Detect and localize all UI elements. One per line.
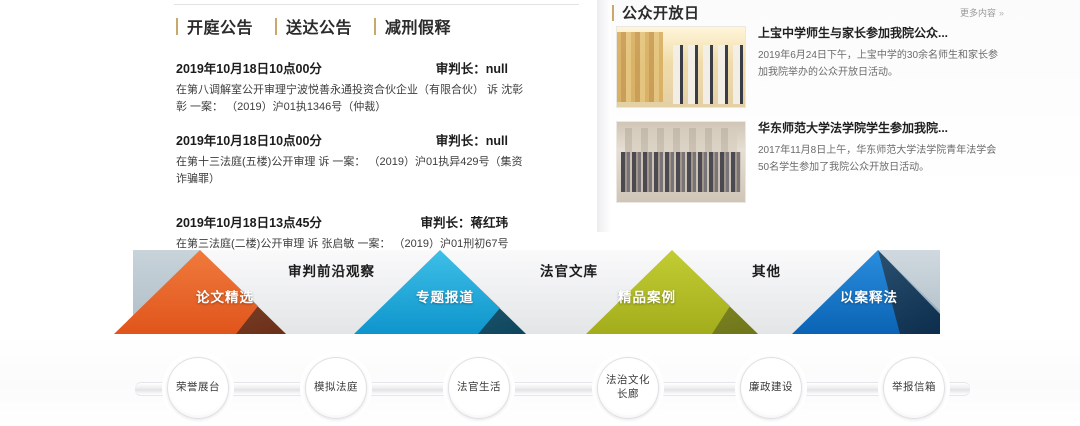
more-link[interactable]: 更多内容» — [960, 6, 1004, 19]
notice-body: 在第八调解室公开审理宁波悦善永通投资合伙企业（有限合伙） 诉 沈彰彰 一案： （… — [176, 82, 528, 116]
nav-node-label: 举报信箱 — [892, 381, 936, 395]
banner-item-yian-shifa[interactable]: 以案释法 — [840, 286, 898, 306]
news-title[interactable]: 上宝中学师生与家长参加我院公众... — [758, 26, 1002, 42]
notice-body: 在第十三法庭(五楼)公开审理 诉 一案： （2019）沪01执异429号（集资诈… — [176, 154, 528, 188]
nav-node-label: 法治文化 长廊 — [606, 374, 650, 401]
news-text: 华东师范大学法学院学生参加我院... 2017年11月8日上午，华东师范大学法学… — [758, 121, 1002, 203]
notice-judge: 审判长：蒋红玮 — [420, 212, 576, 231]
news-description: 2017年11月8日上午，华东师范大学法学院青年法学会50名学生参加了我院公众开… — [758, 142, 1002, 177]
chevron-right-icon: » — [999, 8, 1004, 18]
column-divider — [597, 0, 611, 232]
tab-accent-bar-icon — [374, 18, 376, 35]
banner-item-qita[interactable]: 其他 — [752, 260, 781, 280]
list-item[interactable]: 2019年10月18日10点00分 审判长：null 在第八调解室公开审理宁波悦… — [176, 58, 576, 116]
panel-header: 公众开放日 更多内容» — [612, 2, 1004, 23]
banner-item-lunwen-jingxuan[interactable]: 论文精选 — [196, 286, 254, 306]
notice-date: 2019年10月18日10点00分 — [176, 130, 322, 149]
panel-accent-bar-icon — [612, 5, 614, 21]
page-title: 公众开放日 — [622, 2, 700, 23]
nav-node-rongyu-zhantai[interactable]: 荣誉展台 — [167, 357, 229, 419]
nav-node-jubao-xinxiang[interactable]: 举报信箱 — [883, 357, 945, 419]
open-day-corridor-photo — [616, 26, 746, 108]
notice-date: 2019年10月18日13点45分 — [176, 212, 322, 231]
nav-node-fazhi-wenhua-changlang[interactable]: 法治文化 长廊 — [597, 357, 659, 419]
tab-songda-gonggao[interactable]: 送达公告 — [275, 14, 352, 38]
notice-judge: 审判长：null — [436, 58, 576, 77]
nav-node-label: 荣誉展台 — [176, 381, 220, 395]
top-content-area: 开庭公告 送达公告 减刑假释 2019年10月18日10点00分 审判长：nul… — [0, 0, 1080, 240]
nav-node-label: 法官生活 — [457, 381, 501, 395]
nav-node-label: 廉政建设 — [749, 381, 793, 395]
banner-item-jingpin-anli[interactable]: 精品案例 — [618, 286, 676, 306]
nav-node-lianzheng-jianshe[interactable]: 廉政建设 — [740, 357, 802, 419]
banner-item-zhuanti-baodao[interactable]: 专题报道 — [416, 286, 474, 306]
announcement-tabs: 开庭公告 送达公告 减刑假释 — [176, 14, 473, 38]
tab-jianxing-jiashi[interactable]: 减刑假释 — [374, 14, 451, 38]
notice-header: 2019年10月18日10点00分 审判长：null — [176, 58, 576, 77]
news-title[interactable]: 华东师范大学法学院学生参加我院... — [758, 121, 1002, 137]
tab-label: 开庭公告 — [187, 14, 253, 38]
list-item[interactable]: 华东师范大学法学院学生参加我院... 2017年11月8日上午，华东师范大学法学… — [616, 121, 1008, 203]
tab-accent-bar-icon — [275, 18, 277, 35]
left-panel-top-rule — [174, 4, 579, 5]
nav-node-faguan-shenghuo[interactable]: 法官生活 — [448, 357, 510, 419]
more-link-label: 更多内容 — [960, 8, 996, 18]
tab-kaiting-gonggao[interactable]: 开庭公告 — [176, 14, 253, 38]
nav-node-label: 模拟法庭 — [314, 381, 358, 395]
news-text: 上宝中学师生与家长参加我院公众... 2019年6月24日下午，上宝中学的30余… — [758, 26, 1002, 108]
notice-header: 2019年10月18日10点00分 审判长：null — [176, 130, 576, 149]
open-day-group-photo — [616, 121, 746, 203]
list-item[interactable]: 2019年10月18日10点00分 审判长：null 在第十三法庭(五楼)公开审… — [176, 130, 576, 188]
nav-node-moni-fating[interactable]: 模拟法庭 — [305, 357, 367, 419]
banner-item-faguan-wenku[interactable]: 法官文库 — [540, 260, 598, 280]
list-item[interactable]: 上宝中学师生与家长参加我院公众... 2019年6月24日下午，上宝中学的30余… — [616, 26, 1008, 108]
category-banner: 论文精选 审判前沿观察 专题报道 法官文库 精品案例 其他 以案释法 — [0, 246, 1080, 334]
tab-label: 减刑假释 — [385, 14, 451, 38]
tab-accent-bar-icon — [176, 18, 178, 35]
news-description: 2019年6月24日下午，上宝中学的30余名师生和家长参加我院举办的公众开放日活… — [758, 47, 1002, 82]
banner-item-shenpan-qianyan[interactable]: 审判前沿观察 — [288, 260, 375, 280]
notice-header: 2019年10月18日13点45分 审判长：蒋红玮 — [176, 212, 576, 231]
tab-label: 送达公告 — [286, 14, 352, 38]
notice-judge: 审判长：null — [436, 130, 576, 149]
notice-date: 2019年10月18日10点00分 — [176, 58, 322, 77]
